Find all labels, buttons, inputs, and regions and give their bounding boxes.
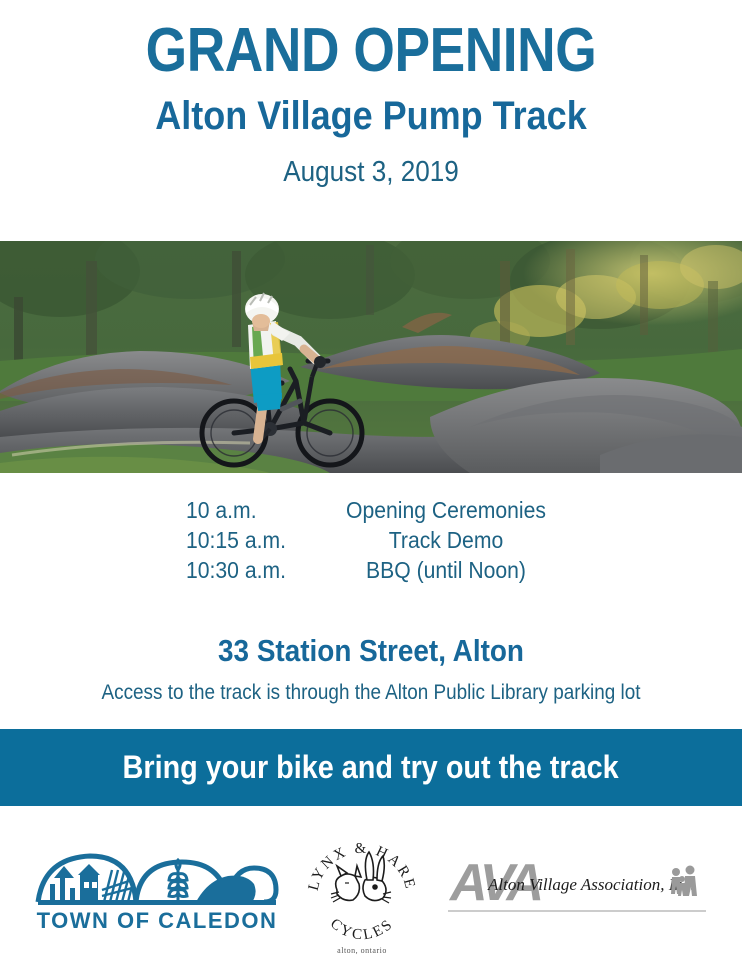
- page-subtitle: Alton Village Pump Track: [37, 82, 705, 136]
- ava-logo-mark: AVA Alton Village Association, Inc.: [448, 846, 708, 922]
- pump-track-photo: [0, 241, 742, 473]
- poster-header: GRAND OPENING Alton Village Pump Track A…: [0, 0, 742, 241]
- schedule-row: 10 a.m. Opening Ceremonies: [0, 497, 742, 527]
- address-street: 33 Station Street, Alton: [37, 633, 705, 669]
- call-to-action-banner: Bring your bike and try out the track: [0, 729, 742, 806]
- photo-illustration: [0, 241, 742, 473]
- caledon-logo-text: TOWN OF CALEDON: [37, 908, 278, 933]
- event-date: August 3, 2019: [37, 136, 705, 187]
- lynx-bottom-text: CYCLES: [327, 916, 397, 944]
- caledon-logo-mark: TOWN OF CALEDON: [32, 844, 282, 932]
- page-title: GRAND OPENING: [52, 0, 690, 82]
- schedule-event: Opening Ceremonies: [345, 497, 547, 524]
- lynx-and-hare-cycles-logo: LYNX & HARE CYCLES: [303, 836, 421, 956]
- lynx-sub-text: alton, ontario: [303, 946, 421, 955]
- banner-text: Bring your bike and try out the track: [123, 749, 619, 786]
- lynx-logo-mark: LYNX & HARE CYCLES: [303, 836, 421, 940]
- poster: GRAND OPENING Alton Village Pump Track A…: [0, 0, 742, 960]
- schedule-time: 10:30 a.m.: [186, 557, 324, 584]
- schedule-time: 10 a.m.: [186, 497, 324, 524]
- town-of-caledon-logo: TOWN OF CALEDON: [32, 844, 282, 932]
- address-block: 33 Station Street, Alton Access to the t…: [0, 633, 742, 705]
- lynx-top-text: LYNX & HARE: [306, 841, 419, 892]
- schedule-row: 10:30 a.m. BBQ (until Noon): [0, 557, 742, 587]
- schedule-list: 10 a.m. Opening Ceremonies 10:15 a.m. Tr…: [0, 497, 742, 587]
- alton-village-association-logo: AVA Alton Village Association, Inc.: [448, 846, 708, 922]
- schedule-time: 10:15 a.m.: [186, 527, 324, 554]
- schedule-row: 10:15 a.m. Track Demo: [0, 527, 742, 557]
- sponsor-logos: TOWN OF CALEDON LYNX & HARE CYCLES: [0, 806, 742, 960]
- ava-script-text: Alton Village Association, Inc.: [487, 875, 695, 894]
- schedule-event: BBQ (until Noon): [345, 557, 547, 584]
- address-note: Access to the track is through the Alton…: [37, 669, 705, 705]
- schedule-event: Track Demo: [345, 527, 547, 554]
